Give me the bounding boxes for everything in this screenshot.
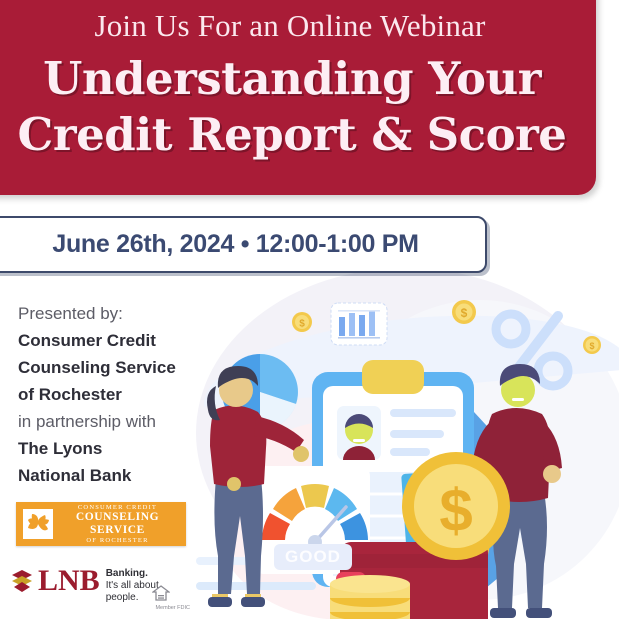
partner-line1: The Lyons — [18, 435, 223, 462]
equal-housing-icon — [152, 585, 170, 601]
cccs-line2: COUNSELING SERVICE — [53, 511, 182, 537]
gauge-segment-average — [301, 484, 329, 508]
person-avatar — [337, 406, 381, 460]
header-kicker: Join Us For an Online Webinar — [10, 8, 570, 44]
page-title-line2: Credit Report & Score — [0, 108, 596, 161]
presented-by-block: Presented by: Consumer Credit Counseling… — [18, 300, 223, 489]
big-dollar-coin: $ — [402, 452, 510, 560]
svg-text:$: $ — [589, 341, 594, 351]
cccs-logo: CONSUMER CREDIT COUNSELING SERVICE OF RO… — [16, 502, 186, 546]
date-time-text: June 26th, 2024 • 12:00-1:00 PM — [52, 230, 418, 259]
presented-by-intro: Presented by: — [18, 300, 223, 327]
date-time-badge: June 26th, 2024 • 12:00-1:00 PM — [0, 216, 487, 273]
bar-chart-icon — [331, 303, 387, 345]
coin-stack — [330, 575, 410, 619]
webinar-poster: $ $ $ — [0, 0, 619, 619]
organizer-line3: of Rochester — [18, 381, 223, 408]
cccs-line3: OF ROCHESTER — [53, 537, 182, 544]
partner-line2: National Bank — [18, 462, 223, 489]
lnb-tagline-block: Banking. It's all about people. Member F… — [106, 568, 190, 613]
page-title-line1: Understanding Your — [0, 52, 596, 105]
cccs-line1: CONSUMER CREDIT — [53, 504, 182, 511]
organizer-line1: Consumer Credit — [18, 327, 223, 354]
lnb-member-fdic: Member FDIC — [106, 604, 190, 613]
svg-text:$: $ — [461, 306, 468, 320]
cccs-logo-text: CONSUMER CREDIT COUNSELING SERVICE OF RO… — [53, 504, 186, 544]
partnership-connector: in partnership with — [18, 408, 223, 435]
header-banner: Join Us For an Online Webinar Understand… — [0, 0, 596, 195]
pinwheel-mark-icon — [23, 509, 53, 539]
lnb-tagline-2: It's all about people. — [106, 580, 190, 604]
gauge-score-text: GOOD — [285, 547, 341, 567]
gauge-score-label: GOOD — [274, 544, 352, 570]
svg-text:$: $ — [439, 477, 472, 544]
lnb-wordmark: LNB — [38, 566, 100, 596]
chevron-stack-mark-icon — [10, 569, 34, 595]
organizer-line2: Counseling Service — [18, 354, 223, 381]
coin-small-right: $ — [583, 336, 601, 354]
finance-illustration: $ $ $ — [196, 282, 619, 619]
svg-text:$: $ — [299, 319, 305, 330]
coin-top-left: $ — [292, 312, 312, 332]
coin-top-right: $ — [452, 300, 476, 324]
lnb-tagline-1: Banking. — [106, 568, 190, 580]
